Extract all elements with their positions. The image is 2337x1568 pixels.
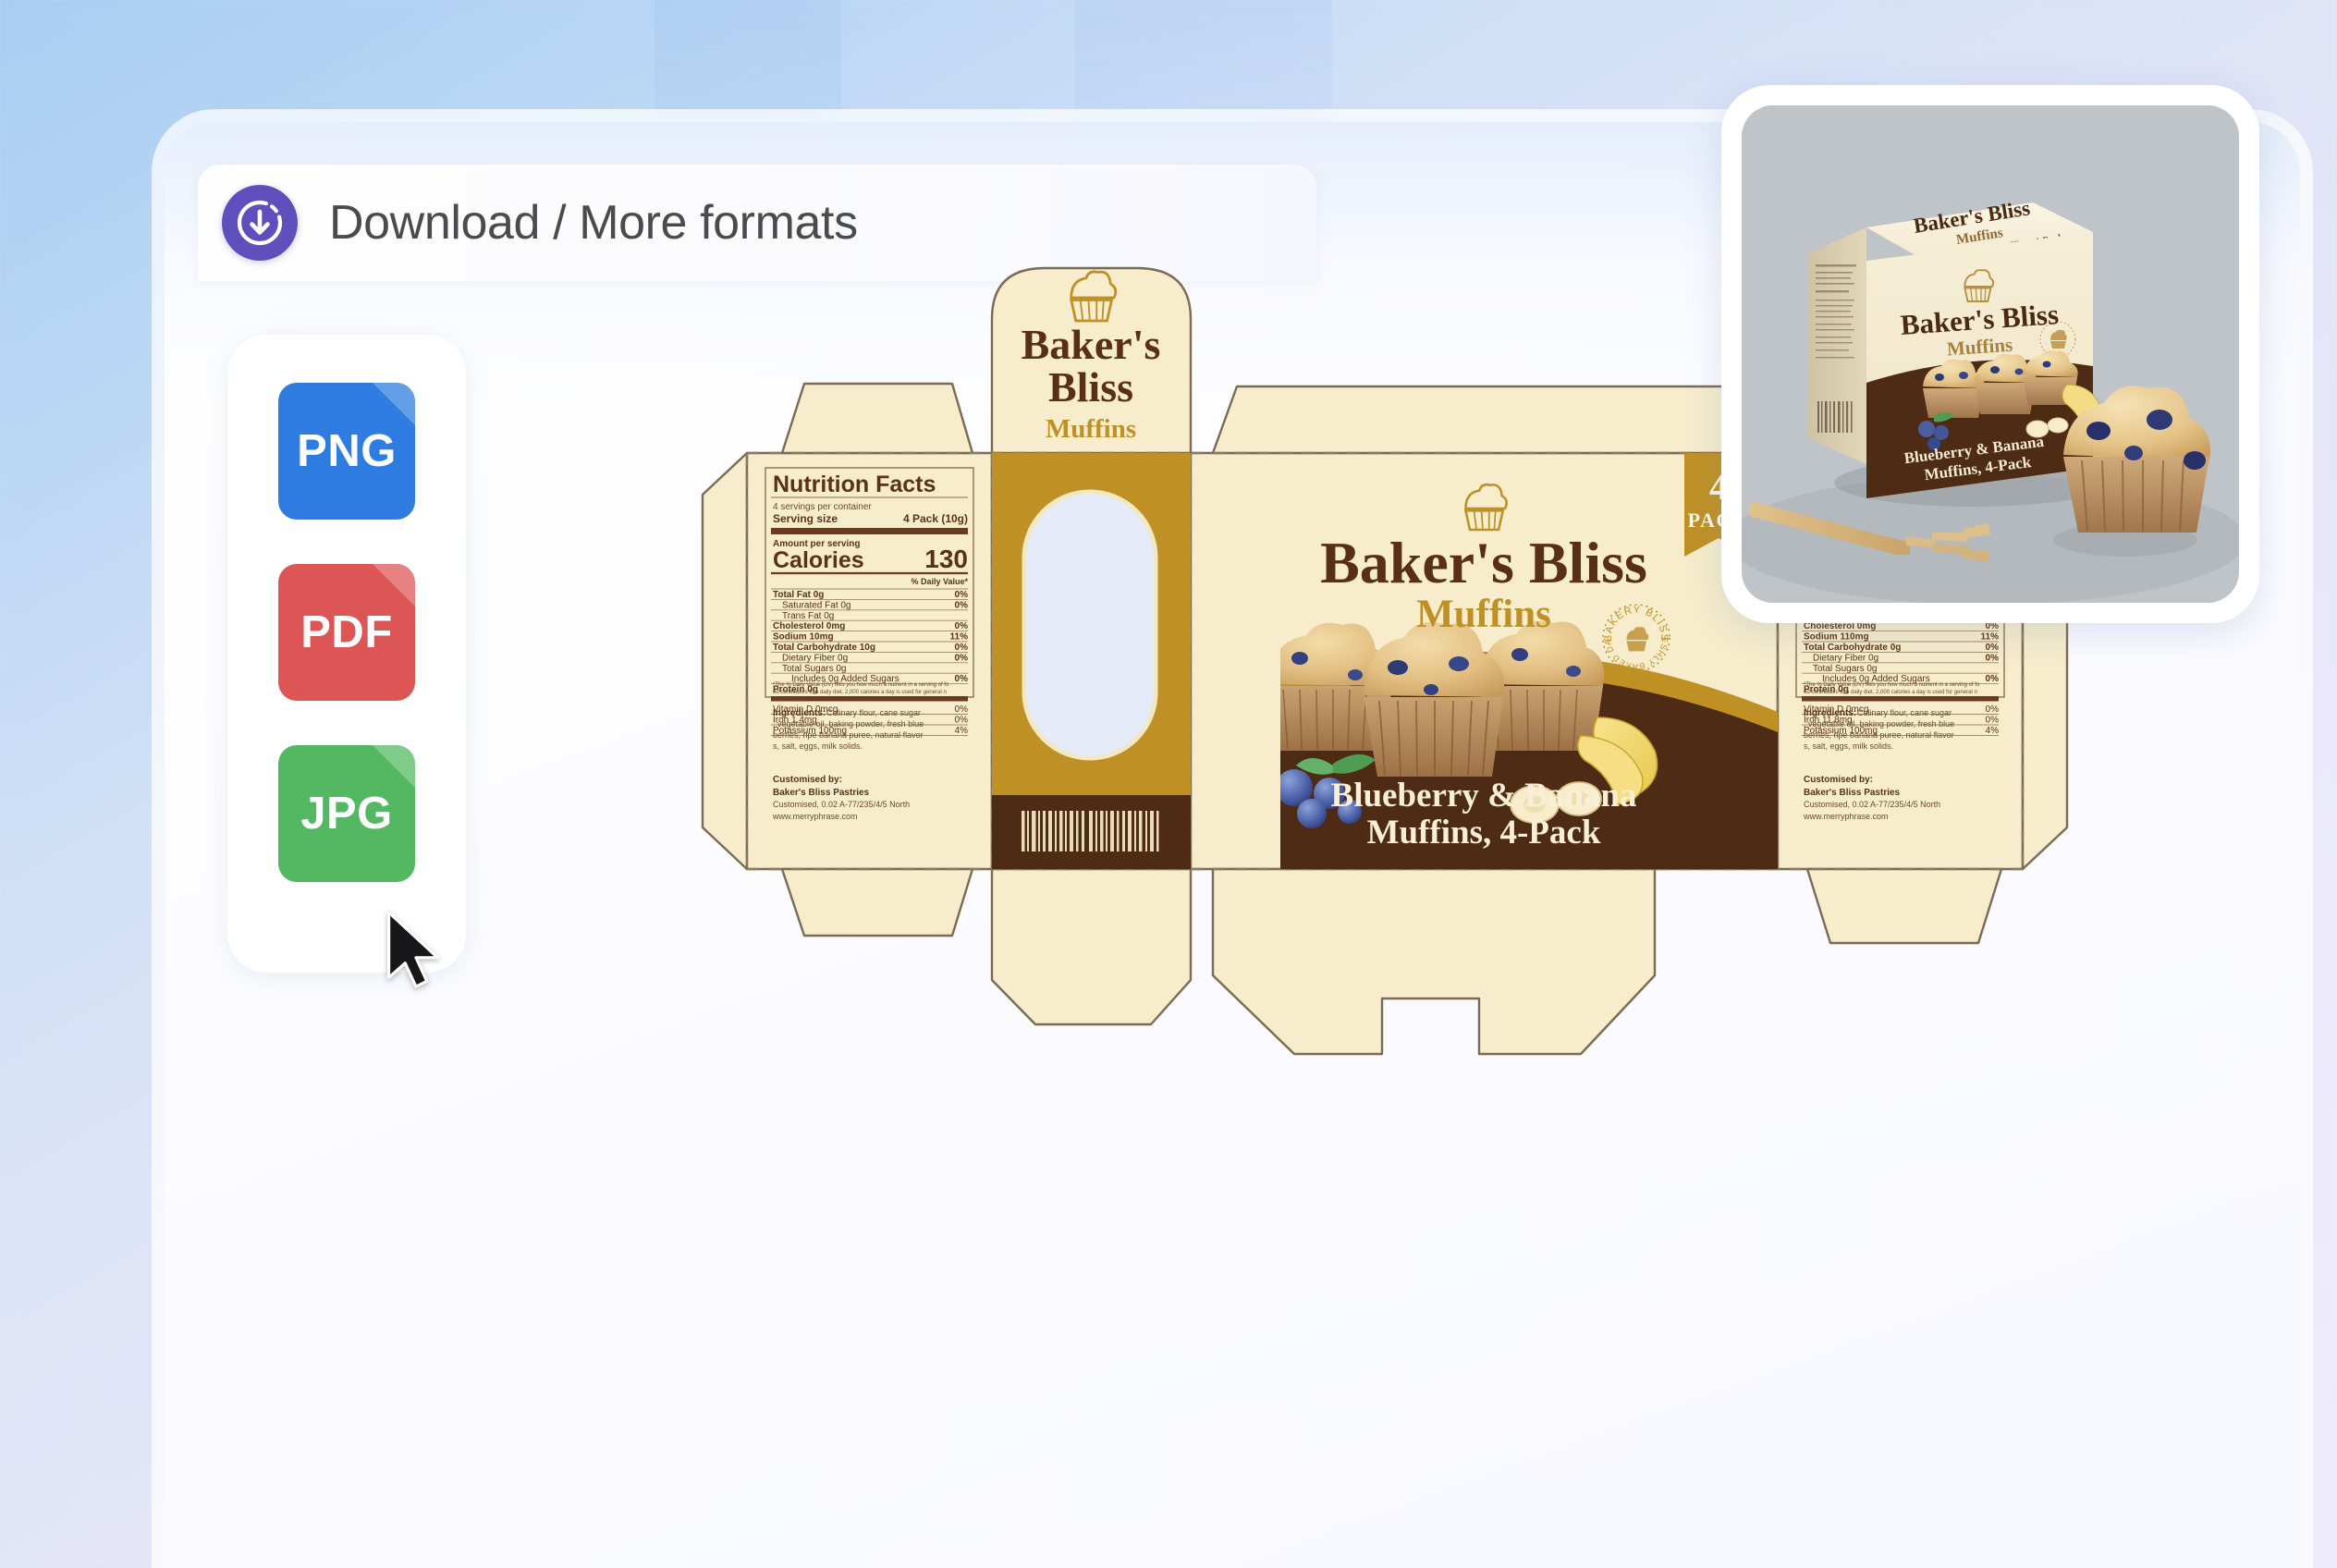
front-flavor-line1: Blueberry & Banana xyxy=(1331,777,1637,815)
nf-calories-value: 130 xyxy=(924,545,968,573)
nf-row-name: Dietary Fiber 0g xyxy=(782,653,848,663)
nf-serving-size-value: 4 Pack (10g) xyxy=(903,512,968,525)
product-preview-image: Baker's Bliss Muffins Blueberry & Banana… xyxy=(1742,105,2239,603)
svg-text:Ingredients:: Ingredients: xyxy=(1804,708,1856,718)
page-fold-icon xyxy=(373,383,415,425)
nf-row-name: Cholesterol 0mg xyxy=(773,621,845,631)
nf-row-dv: 0% xyxy=(1986,643,2000,653)
side-flap-brand-line1: Baker's xyxy=(1022,321,1161,368)
dieline-glue-flap xyxy=(703,453,747,869)
nf-row-dv: 0% xyxy=(955,674,969,684)
nf-row-name: Sodium 110mg xyxy=(1804,632,1869,643)
svg-text:Ingredients:: Ingredients: xyxy=(773,708,826,718)
nf-micro-dv: 0% xyxy=(1986,704,2000,715)
dieline-flap-left-bottom xyxy=(782,869,973,936)
format-list: PNG PDF JPG xyxy=(227,335,466,973)
product-preview-card[interactable]: Baker's Bliss Muffins Blueberry & Banana… xyxy=(1721,85,2259,623)
download-circle-icon xyxy=(222,185,298,261)
format-png-button[interactable]: PNG xyxy=(278,383,415,520)
download-title: Download / More formats xyxy=(329,195,858,251)
dieline-flap-side-bottom xyxy=(992,869,1191,1024)
customised-name: Baker's Bliss Pastries xyxy=(773,788,870,798)
nf-row-dv: 11% xyxy=(1981,632,2000,643)
nf-row-dv: 0% xyxy=(955,600,969,610)
front-flavor-line2: Muffins, 4-Pack xyxy=(1367,814,1601,851)
customised-addr: Customised, 0.02 A-77/235/4/5 North xyxy=(1804,800,1940,809)
nf-row-name: Sodium 10mg xyxy=(773,632,834,643)
nf-row-dv: 0% xyxy=(1986,653,2000,663)
customised-label: Customised by: xyxy=(773,775,842,785)
dieline-flap-front-top xyxy=(1213,386,1756,453)
nf-row-dv: 0% xyxy=(955,621,969,631)
format-pdf-button[interactable]: PDF xyxy=(278,564,415,701)
nf-micro-dv: 4% xyxy=(955,726,969,736)
nf-calories-label: Calories xyxy=(773,547,864,573)
dieline-flap-front-bottom xyxy=(1213,869,1655,1054)
nf-row-dv: 0% xyxy=(955,590,969,600)
dieline-flap-left-top xyxy=(782,384,973,453)
nf-row-dv: 0% xyxy=(955,653,969,663)
nf-micro-dv: 0% xyxy=(1986,716,2000,726)
side-flap-brand-line2: Bliss xyxy=(1048,363,1133,410)
mouse-pointer-icon xyxy=(385,911,444,990)
front-brand-line1: Baker's Bliss xyxy=(1320,530,1647,595)
nf-micro-dv: 4% xyxy=(1986,726,2000,736)
nf-row-name: Dietary Fiber 0g xyxy=(1813,653,1878,663)
nf-row-name: Saturated Fat 0g xyxy=(782,600,851,610)
nf-dv-header: % Daily Value* xyxy=(911,577,968,586)
format-jpg-label: JPG xyxy=(300,788,393,839)
nf-row-dv: 0% xyxy=(955,643,969,653)
side-flap-brand-line3: Muffins xyxy=(1046,414,1136,444)
ingredients-label: Ingredients: xyxy=(1804,708,1856,718)
dieline-flap-right-bottom xyxy=(1807,869,2001,943)
nf-row-name: Total Sugars 0g xyxy=(782,664,847,674)
nf-row-name: Total Carbohydrate 10g xyxy=(773,643,875,653)
nf-micro-dv: 0% xyxy=(955,716,969,726)
nf-row-dv: 11% xyxy=(950,632,969,643)
nf-row-dv: 0% xyxy=(1986,674,2000,684)
nf-row-name: Trans Fat 0g xyxy=(782,611,834,621)
customised-addr: Customised, 0.02 A-77/235/4/5 North xyxy=(773,800,910,809)
customised-site: www.merryphrase.com xyxy=(1803,812,1889,821)
download-header-bar[interactable]: Download / More formats xyxy=(198,165,1316,281)
customised-label: Customised by: xyxy=(1804,775,1873,785)
nf-servings: 4 servings per container xyxy=(773,502,872,512)
front-brand-line2: Muffins xyxy=(1416,593,1551,636)
nf-serving-size-label: Serving size xyxy=(773,512,838,525)
format-png-label: PNG xyxy=(297,425,397,477)
format-jpg-button[interactable]: JPG xyxy=(278,745,415,882)
nf-row-name: Total Fat 0g xyxy=(773,590,824,600)
customised-site: www.merryphrase.com xyxy=(772,812,858,821)
nf-micro-dv: 0% xyxy=(955,704,969,715)
ingredients-label: Ingredients: xyxy=(773,708,826,718)
page-fold-icon xyxy=(373,564,415,606)
page-fold-icon xyxy=(373,745,415,788)
nf-row-name: Total Carbohydrate 0g xyxy=(1804,643,1901,653)
dieline-side-panel-art xyxy=(992,453,1191,869)
nf-row-name: Total Sugars 0g xyxy=(1813,664,1878,674)
format-pdf-label: PDF xyxy=(300,606,393,658)
nf-title: Nutrition Facts xyxy=(773,472,936,497)
customised-name: Baker's Bliss Pastries xyxy=(1804,788,1901,798)
